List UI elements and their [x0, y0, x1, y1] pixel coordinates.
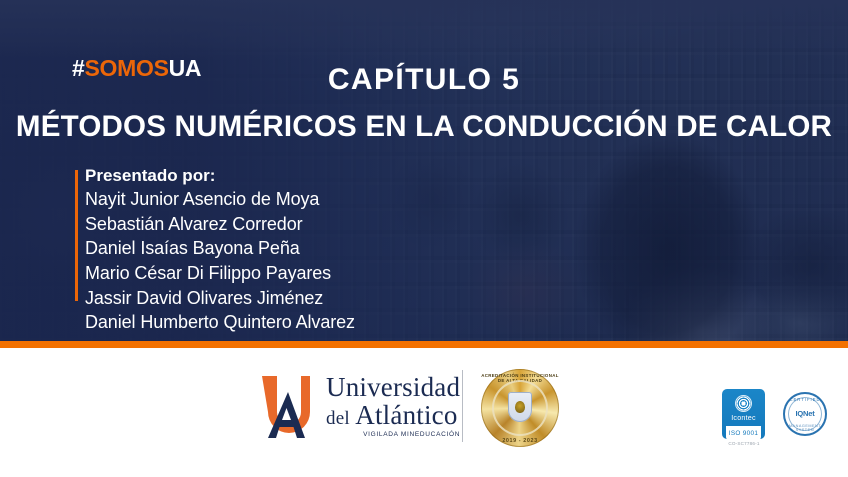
ua-wordmark: Universidad del Atlántico VIGILADA MINED… — [326, 374, 460, 438]
accreditation-seal-icon: ACREDITACIÓN INSTITUCIONAL DE ALTA CALID… — [481, 369, 559, 447]
presenter-name: Daniel Isaías Bayona Peña — [85, 236, 355, 261]
seal-inner-disc — [492, 380, 548, 436]
presenter-name: Daniel Humberto Quintero Alvarez — [85, 310, 355, 335]
navy-top-gradient — [0, 0, 848, 60]
ua-wordmark-line2: del Atlántico — [326, 401, 460, 429]
iqnet-arc-bottom-text: MANAGEMENT SYSTEM — [783, 424, 827, 432]
presentation-slide: #SOMOSUA CAPÍTULO 5 MÉTODOS NUMÉRICOS EN… — [0, 0, 848, 477]
icontec-iso-text: ISO 9001 — [726, 426, 761, 440]
presenter-name: Sebastián Alvarez Corredor — [85, 212, 355, 237]
presenters-block: Presentado por: Nayit Junior Asencio de … — [75, 164, 355, 335]
chapter-title: CAPÍTULO 5 — [0, 65, 848, 95]
icontec-certificate-code: CO-SC7786-1 — [718, 441, 770, 446]
ua-wordmark-del: del — [326, 408, 350, 429]
iqnet-badge: CERTIFIED IQNet MANAGEMENT SYSTEM — [783, 392, 827, 436]
icontec-name-text: Icontec — [722, 414, 765, 421]
iqnet-name-text: IQNet — [783, 409, 827, 418]
seal-years-text: 2019 - 2023 — [481, 438, 559, 444]
icontec-badge: Icontec ISO 9001 CO-SC7786-1 — [722, 389, 765, 439]
footer-vertical-divider — [462, 370, 463, 442]
iqnet-arc-top-text: CERTIFIED — [783, 397, 827, 402]
ua-monogram-svg — [258, 372, 320, 442]
ua-wordmark-line1: Universidad — [326, 374, 460, 401]
presenters-label: Presentado por: — [85, 164, 355, 187]
slide-subtitle: MÉTODOS NUMÉRICOS EN LA CONDUCCIÓN DE CA… — [6, 108, 841, 146]
icontec-concentric-circles-icon — [735, 395, 752, 412]
presenter-name: Jassir David Olivares Jiménez — [85, 286, 355, 311]
universidad-del-atlantico-logo: Universidad del Atlántico VIGILADA MINED… — [258, 370, 460, 442]
ua-monogram-icon — [258, 372, 320, 442]
ua-wordmark-atlantico: Atlántico — [355, 400, 457, 430]
presenter-name: Nayit Junior Asencio de Moya — [85, 187, 355, 212]
orange-divider-bar — [0, 341, 848, 348]
ua-tagline: VIGILADA MINEDUCACIÓN — [326, 431, 460, 438]
seal-shield-icon — [508, 392, 532, 422]
presenter-name: Mario César Di Filippo Payares — [85, 261, 355, 286]
